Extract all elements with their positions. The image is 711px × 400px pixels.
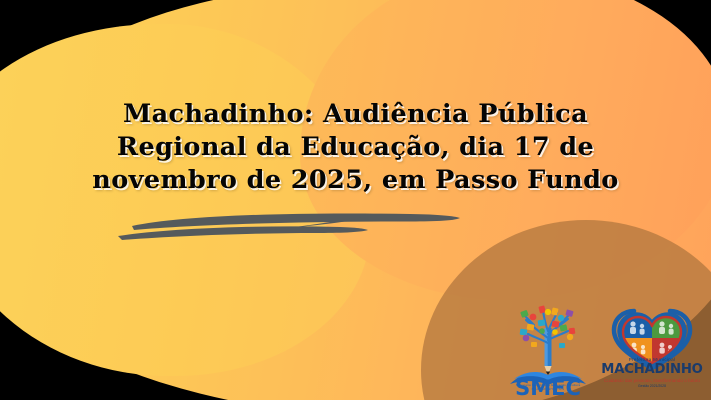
smec-city: MACHADINHO - RS <box>498 387 598 391</box>
prefeitura-municipal-logo: Prefeitura Municipal MACHADINHO Cuidando… <box>600 300 704 396</box>
title-line-3: novembro de 2025, em Passo Fundo <box>0 164 711 197</box>
title-line-2: Regional da Educação, dia 17 de <box>0 131 711 164</box>
pencil-tree-icon <box>520 305 576 375</box>
prefeitura-term: Gestão 2021/2028 <box>600 385 704 389</box>
prefeitura-name: MACHADINHO <box>600 363 704 378</box>
swoosh-underline-decoration <box>110 198 470 246</box>
presentation-slide: Machadinho: Audiência Pública Regional d… <box>0 0 711 400</box>
slide-title: Machadinho: Audiência Pública Regional d… <box>0 98 711 197</box>
smec-logo: SMEC Secretaria Municipal de Educação e … <box>498 298 598 398</box>
title-line-1: Machadinho: Audiência Pública <box>0 98 711 131</box>
